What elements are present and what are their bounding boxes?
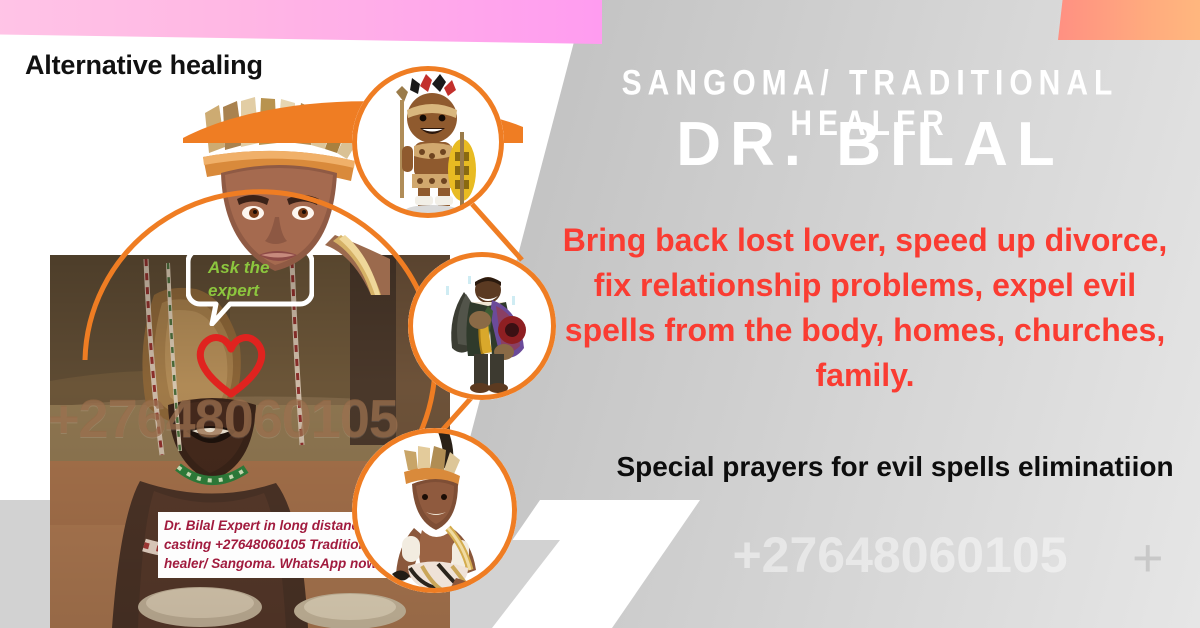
top-orange-bar: [1058, 0, 1200, 40]
poster-canvas: + Alternative healing: [0, 0, 1200, 628]
page-title: Alternative healing: [25, 50, 263, 81]
circle-ring-2: [408, 252, 556, 400]
services-text: Bring back lost lover, speed up divorce,…: [545, 218, 1185, 398]
brand-name: DR. BILAL: [560, 112, 1180, 178]
top-pink-bar: [0, 0, 602, 44]
special-offer-text: Special prayers for evil spells eliminat…: [600, 444, 1190, 489]
circle-ring-1: [352, 66, 504, 218]
circle-ring-3: [352, 428, 517, 593]
phone-watermark: +27648060105: [600, 526, 1200, 584]
